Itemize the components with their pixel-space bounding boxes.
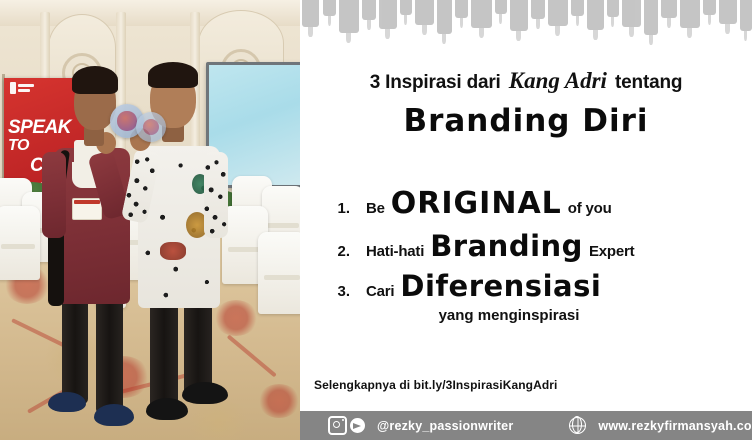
- drip: [471, 0, 492, 28]
- drip: [571, 0, 584, 16]
- social-handle[interactable]: @rezky_passionwriter: [377, 419, 513, 433]
- banner-line1: SPEAK: [8, 118, 71, 137]
- leg: [96, 296, 123, 414]
- drip: [719, 0, 737, 24]
- drip: [495, 0, 507, 14]
- leg: [62, 296, 88, 404]
- shoe: [48, 392, 86, 412]
- carpet-motif: [258, 384, 300, 418]
- list-item: 3. Cari Diferensiasi: [314, 269, 752, 303]
- hair: [72, 66, 118, 94]
- website-group[interactable]: www.rezkyfirmansyah.com: [569, 417, 752, 434]
- drip: [400, 0, 412, 15]
- headline-prefix: 3 Inspirasi dari: [370, 72, 501, 93]
- inspiration-list: 1. Be ORIGINAL of you 2. Hati-hati Brand…: [300, 186, 752, 324]
- social-handle-group[interactable]: @rezky_passionwriter: [328, 416, 513, 435]
- drip: [703, 0, 716, 15]
- drip: [510, 0, 528, 31]
- arm: [204, 152, 228, 238]
- list-item-after: of you: [568, 200, 612, 217]
- page-title: Branding Diri: [300, 103, 752, 139]
- drip: [455, 0, 468, 18]
- batik-motif: [160, 242, 186, 260]
- paint-drip-texture: [300, 0, 752, 46]
- banquet-chair: [0, 206, 40, 280]
- award-trophy: [136, 112, 166, 142]
- list-item-number: 1.: [314, 200, 350, 217]
- drip: [587, 0, 604, 30]
- list-item-emphasis: Branding: [424, 229, 589, 263]
- content-panel: 3 Inspirasi dari Kang Adri tentang Brand…: [300, 0, 752, 440]
- drip: [339, 0, 359, 33]
- drip: [362, 0, 376, 20]
- shoe: [146, 398, 188, 420]
- instagram-icon[interactable]: [328, 416, 347, 435]
- leg: [150, 300, 178, 412]
- list-item-before: Cari: [366, 283, 394, 300]
- banner-line2: TO: [8, 138, 29, 154]
- globe-icon[interactable]: [569, 417, 586, 434]
- drip: [323, 0, 336, 16]
- list-item-before: Hati-hati: [366, 243, 424, 260]
- shoe: [182, 382, 228, 404]
- poster: SPEAK TO CHANGE Become the Change: [0, 0, 752, 440]
- drip: [661, 0, 677, 18]
- carpet-motif: [214, 300, 258, 336]
- drip: [644, 0, 658, 35]
- drip: [548, 0, 568, 26]
- carpet-motif: [182, 400, 254, 440]
- event-photo: SPEAK TO CHANGE Become the Change: [0, 0, 300, 440]
- list-item-number: 3.: [314, 283, 350, 300]
- shoe: [94, 404, 134, 426]
- footer-bar: @rezky_passionwriter www.rezkyfirmansyah…: [300, 411, 752, 440]
- list-item-before: Be: [366, 200, 385, 217]
- list-item-number: 2.: [314, 243, 350, 260]
- name-badge: [72, 198, 102, 220]
- headline: 3 Inspirasi dari Kang Adri tentang: [300, 68, 752, 94]
- drip: [437, 0, 452, 34]
- hair: [148, 62, 198, 88]
- telegram-icon[interactable]: [350, 418, 365, 433]
- drip: [680, 0, 700, 28]
- drip: [415, 0, 434, 25]
- carpet-stem: [227, 334, 277, 377]
- drip: [740, 0, 752, 31]
- list-item: 2. Hati-hati Branding Expert: [314, 229, 752, 263]
- list-item-after: Expert: [589, 243, 635, 260]
- list-tagline: yang menginspirasi: [300, 307, 752, 324]
- list-item-emphasis: ORIGINAL: [385, 186, 568, 221]
- headline-name: Kang Adri: [506, 68, 610, 93]
- more-info-link[interactable]: Selengkapnya di bit.ly/3InspirasiKangAdr…: [314, 378, 558, 392]
- drip: [379, 0, 397, 29]
- list-item: 1. Be ORIGINAL of you: [314, 186, 752, 221]
- banquet-chair: [258, 232, 300, 314]
- drip: [531, 0, 545, 19]
- banner-logo-icon: [10, 82, 36, 94]
- headline-suffix: tentang: [615, 72, 682, 93]
- website-url[interactable]: www.rezkyfirmansyah.com: [598, 419, 752, 433]
- drip: [302, 0, 319, 27]
- list-item-emphasis: Diferensiasi: [394, 269, 607, 303]
- drip: [622, 0, 641, 27]
- arm: [42, 152, 66, 238]
- drip: [607, 0, 619, 17]
